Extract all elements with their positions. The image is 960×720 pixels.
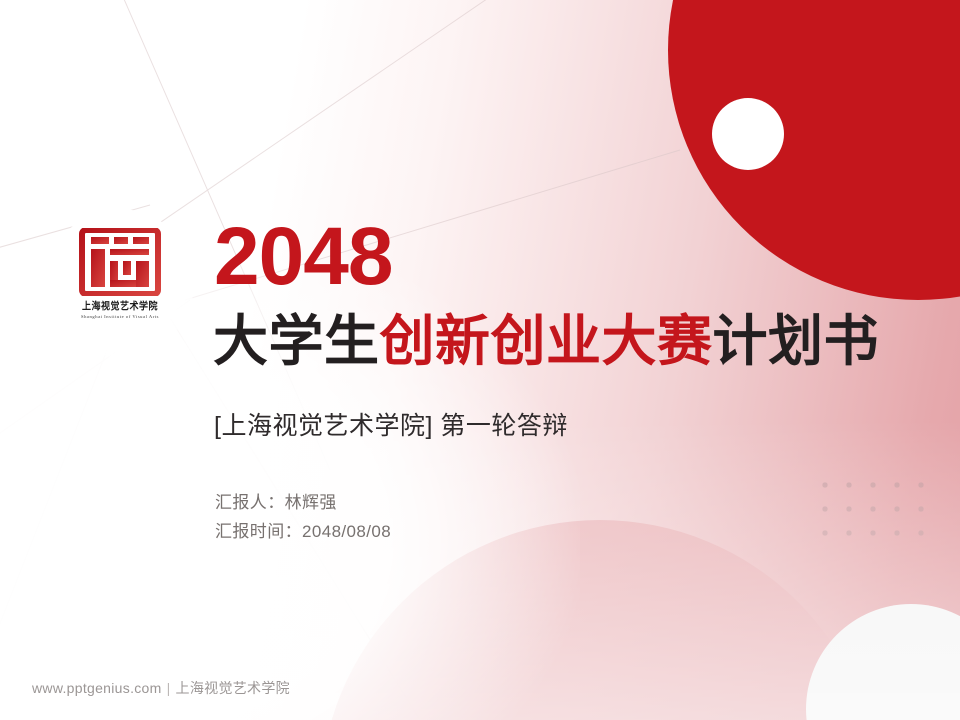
logo-seal-icon: [79, 228, 161, 296]
slide-title-tail: 计划书: [713, 310, 880, 372]
slide-title: 大学生创新创业大赛计划书: [213, 312, 879, 371]
slide-title-highlight: 创新创业大赛: [380, 310, 713, 372]
slide-year: 2048: [214, 216, 392, 298]
footer-site: www.pptgenius.com: [32, 680, 162, 696]
slide-subtitle: [上海视觉艺术学院] 第一轮答辩: [214, 406, 568, 442]
presentation-slide: 上海视觉艺术学院 Shanghai Institute of Visual Ar…: [0, 0, 960, 720]
decor-dot-grid: [810, 470, 930, 550]
meta-date: 汇报时间：2048/08/08: [215, 517, 391, 546]
meta-presenter: 汇报人：林辉强: [215, 488, 391, 517]
slide-title-lead: 大学生: [213, 310, 380, 372]
footer-organization: 上海视觉艺术学院: [176, 680, 290, 696]
university-logo: 上海视觉艺术学院 Shanghai Institute of Visual Ar…: [62, 228, 178, 324]
logo-name-en: Shanghai Institute of Visual Arts: [81, 314, 159, 319]
slide-footer: www.pptgenius.com|上海视觉艺术学院: [32, 678, 290, 698]
slide-meta: 汇报人：林辉强 汇报时间：2048/08/08: [215, 488, 391, 546]
logo-seal-mark: [79, 228, 161, 296]
footer-separator: |: [167, 680, 171, 696]
decor-circle-white-small: [712, 98, 784, 170]
logo-name-cn: 上海视觉艺术学院: [82, 298, 158, 313]
